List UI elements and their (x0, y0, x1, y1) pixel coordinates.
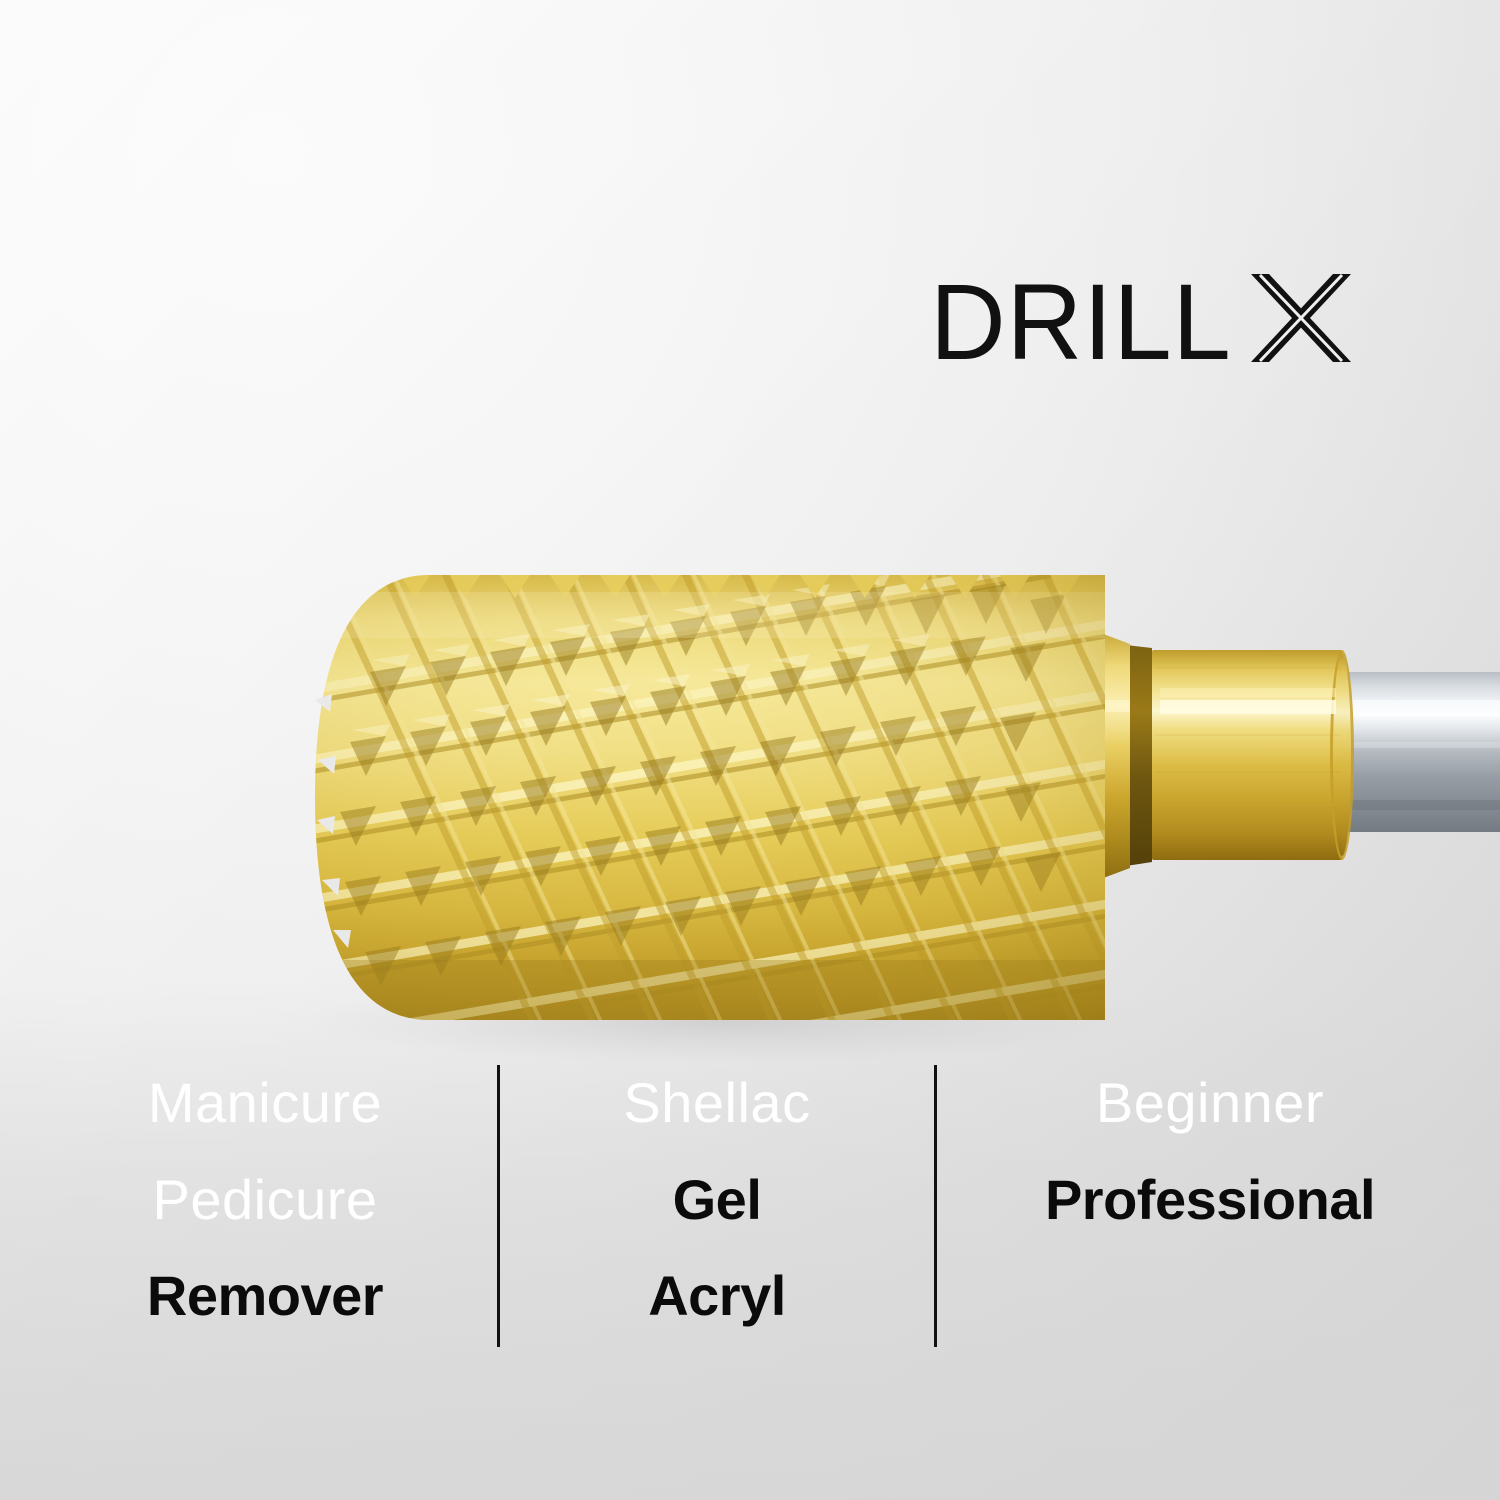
brand-x-mark-icon (1249, 272, 1353, 364)
brand-logo: DRILL (930, 268, 1353, 378)
feature-item-remover[interactable]: Remover (40, 1268, 490, 1324)
feature-row: Manicure Pedicure Remover Shellac Gel Ac… (0, 1055, 1500, 1355)
feature-column-material: Shellac Gel Acryl (512, 1055, 922, 1355)
feature-divider-2 (934, 1065, 937, 1347)
product-image-canvas: DRILL (0, 0, 1500, 1500)
feature-item-shellac[interactable]: Shellac (512, 1075, 922, 1131)
brand-name: DRILL (930, 268, 1232, 376)
feature-label: Gel (673, 1172, 762, 1228)
feature-item-gel[interactable]: Gel (512, 1172, 922, 1228)
feature-label: Shellac (623, 1075, 810, 1131)
feature-divider-1 (497, 1065, 500, 1347)
feature-column-skill-level: Beginner Professional (950, 1055, 1470, 1355)
feature-item-professional[interactable]: Professional (950, 1172, 1470, 1228)
feature-label: Remover (147, 1268, 383, 1324)
feature-item-pedicure[interactable]: Pedicure (40, 1172, 490, 1228)
feature-column-treatment: Manicure Pedicure Remover (40, 1055, 490, 1355)
feature-item-beginner[interactable]: Beginner (950, 1075, 1470, 1131)
feature-label: Acryl (648, 1268, 786, 1324)
feature-item-acryl[interactable]: Acryl (512, 1268, 922, 1324)
feature-label: Manicure (148, 1075, 382, 1131)
feature-item-manicure[interactable]: Manicure (40, 1075, 490, 1131)
feature-label: Pedicure (152, 1172, 377, 1228)
feature-label: Beginner (1096, 1075, 1324, 1131)
feature-label: Professional (1045, 1172, 1375, 1228)
